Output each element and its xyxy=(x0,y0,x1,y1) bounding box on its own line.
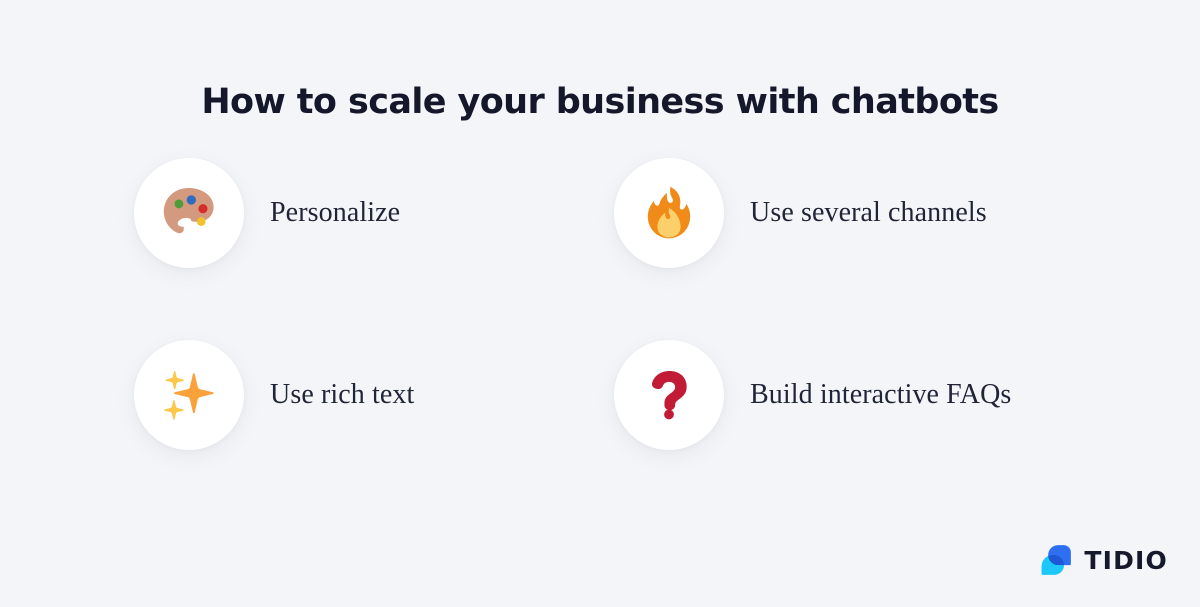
tidio-wordmark: TIDIO xyxy=(1084,548,1168,573)
tidio-chat-bubbles-icon xyxy=(1039,543,1073,577)
sparkles-icon xyxy=(158,364,220,426)
tidio-logo: TIDIO xyxy=(1039,543,1168,577)
infographic-canvas: How to scale your business with chatbots xyxy=(0,0,1200,607)
feature-item-use-rich-text: Use rich text xyxy=(134,340,594,522)
icon-circle xyxy=(614,340,724,450)
red-question-mark-icon xyxy=(641,367,697,423)
feature-item-build-interactive-faqs: Build interactive FAQs xyxy=(614,340,1074,522)
feature-label: Personalize xyxy=(270,158,400,268)
page-title: How to scale your business with chatbots xyxy=(0,81,1200,123)
icon-circle xyxy=(134,158,244,268)
fire-icon xyxy=(639,183,699,243)
icon-circle xyxy=(614,158,724,268)
feature-label: Use several channels xyxy=(750,158,987,268)
feature-item-use-several-channels: Use several channels xyxy=(614,158,1074,340)
feature-grid: Personalize Use several channels xyxy=(134,158,1074,522)
icon-circle xyxy=(134,340,244,450)
feature-item-personalize: Personalize xyxy=(134,158,594,340)
feature-label: Use rich text xyxy=(270,340,414,450)
artist-palette-icon xyxy=(158,182,220,244)
feature-label: Build interactive FAQs xyxy=(750,340,1011,450)
